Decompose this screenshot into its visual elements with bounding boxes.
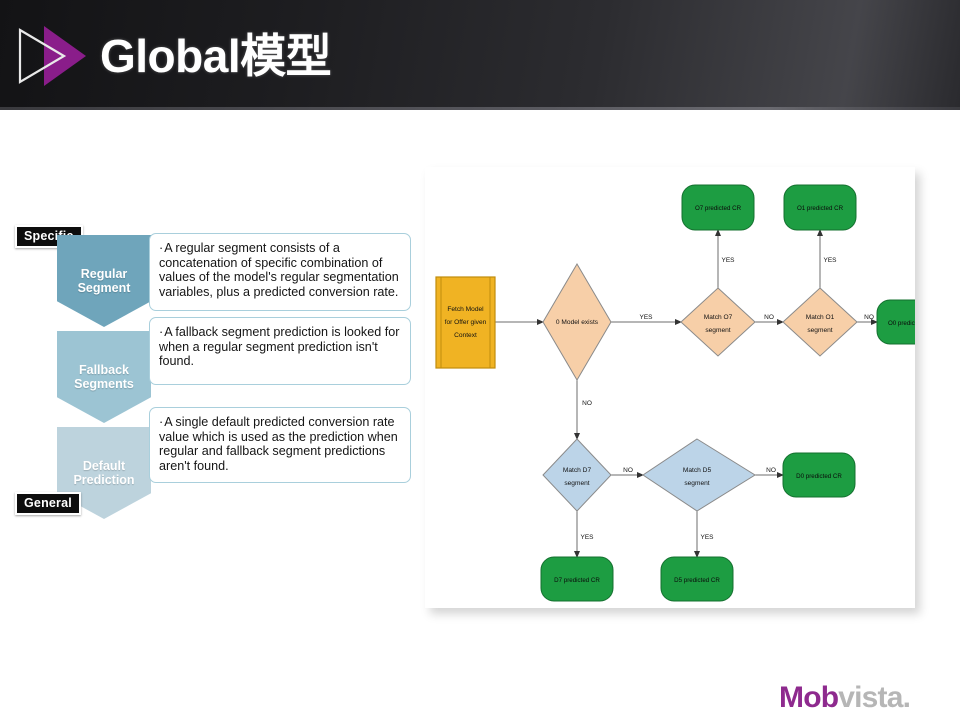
chevron-label-line2: Prediction [73,473,134,487]
node-label-line1: Match D7 [563,467,592,474]
description-regular-segment: ·A regular segment consists of a concate… [149,233,411,311]
node-label-line1: Match D5 [683,467,712,474]
chevron-fallback-segments[interactable]: Fallback Segments [57,331,151,423]
node-label: D0 predicted CR [796,473,842,480]
node-label-line1: Match O7 [704,314,733,321]
flow-node-o1-predicted-cr[interactable]: O1 predicted CR [784,185,856,230]
flow-node-d5-predicted-cr[interactable]: D5 predicted CR [661,557,733,601]
node-label: 0 Model exists [556,319,599,326]
model-lookup-flowchart: YES NO YES NO YES NO NO YES NO YES Fetch… [425,167,915,608]
description-text: A regular segment consists of a concaten… [159,241,399,299]
flowchart-panel: YES NO YES NO YES NO NO YES NO YES Fetch… [425,167,915,608]
edge-label-d7-yes: YES [580,534,594,541]
tag-general: General [15,492,81,515]
node-label: D7 predicted CR [554,577,600,584]
node-label-line2: for Offer given [445,319,487,326]
logo-text-part1: Mob [779,681,838,714]
node-label-line1: Match O1 [806,314,835,321]
node-label-line3: Context [454,332,477,339]
bullet-icon: · [159,325,163,339]
page-title: Global模型 [100,22,331,90]
node-label-line2: segment [684,480,709,487]
description-fallback-segments: ·A fallback segment prediction is looked… [149,317,411,385]
play-triangle-logo-icon [14,20,90,92]
slide-header: Global模型 [0,0,960,110]
mobvista-logo: Mobvista. [779,681,910,715]
chevron-regular-segment[interactable]: Regular Segment [57,235,151,327]
segment-hierarchy-panel: Specific Regular Segment Fallback Segmen… [12,225,412,525]
node-label: O0 predicted CR [888,320,915,327]
logo-text-part2: vista. [838,681,910,714]
edge-label-d5-yes: YES [700,534,714,541]
description-text: A fallback segment prediction is looked … [159,325,399,368]
chevron-label-line2: Segments [74,377,134,391]
edge-label-model-no: NO [582,400,592,407]
node-label-line2: segment [807,327,832,334]
flow-node-o0-predicted-cr[interactable]: O0 predicted CR [877,300,915,344]
edge-label-model-yes: YES [639,314,653,321]
flow-node-fetch-model[interactable]: Fetch Model for Offer given Context [436,277,495,368]
node-label: O7 predicted CR [695,205,742,212]
flow-node-d7-predicted-cr[interactable]: D7 predicted CR [541,557,613,601]
edge-label-d7-no: NO [623,467,633,474]
edge-label-o7-no: NO [764,314,774,321]
edge-label-o1-yes: YES [823,257,837,264]
edge-label-d5-no: NO [766,467,776,474]
bullet-icon: · [159,415,163,429]
chevron-label-line1: Default [73,459,134,473]
chevron-label-line1: Fallback [74,363,134,377]
flow-node-o7-predicted-cr[interactable]: O7 predicted CR [682,185,754,230]
description-default-prediction: ·A single default predicted conversion r… [149,407,411,483]
description-text: A single default predicted conversion ra… [159,415,398,473]
edge-label-o7-yes: YES [721,257,735,264]
node-label: D5 predicted CR [674,577,720,584]
node-label-line2: segment [705,327,730,334]
chevron-label-line2: Segment [78,281,131,295]
flow-node-d0-predicted-cr[interactable]: D0 predicted CR [783,453,855,497]
node-label-line2: segment [564,480,589,487]
edge-label-o1-no: NO [864,314,874,321]
node-label: O1 predicted CR [797,205,844,212]
bullet-icon: · [159,241,163,255]
node-label-line1: Fetch Model [447,306,484,313]
chevron-label-line1: Regular [78,267,131,281]
